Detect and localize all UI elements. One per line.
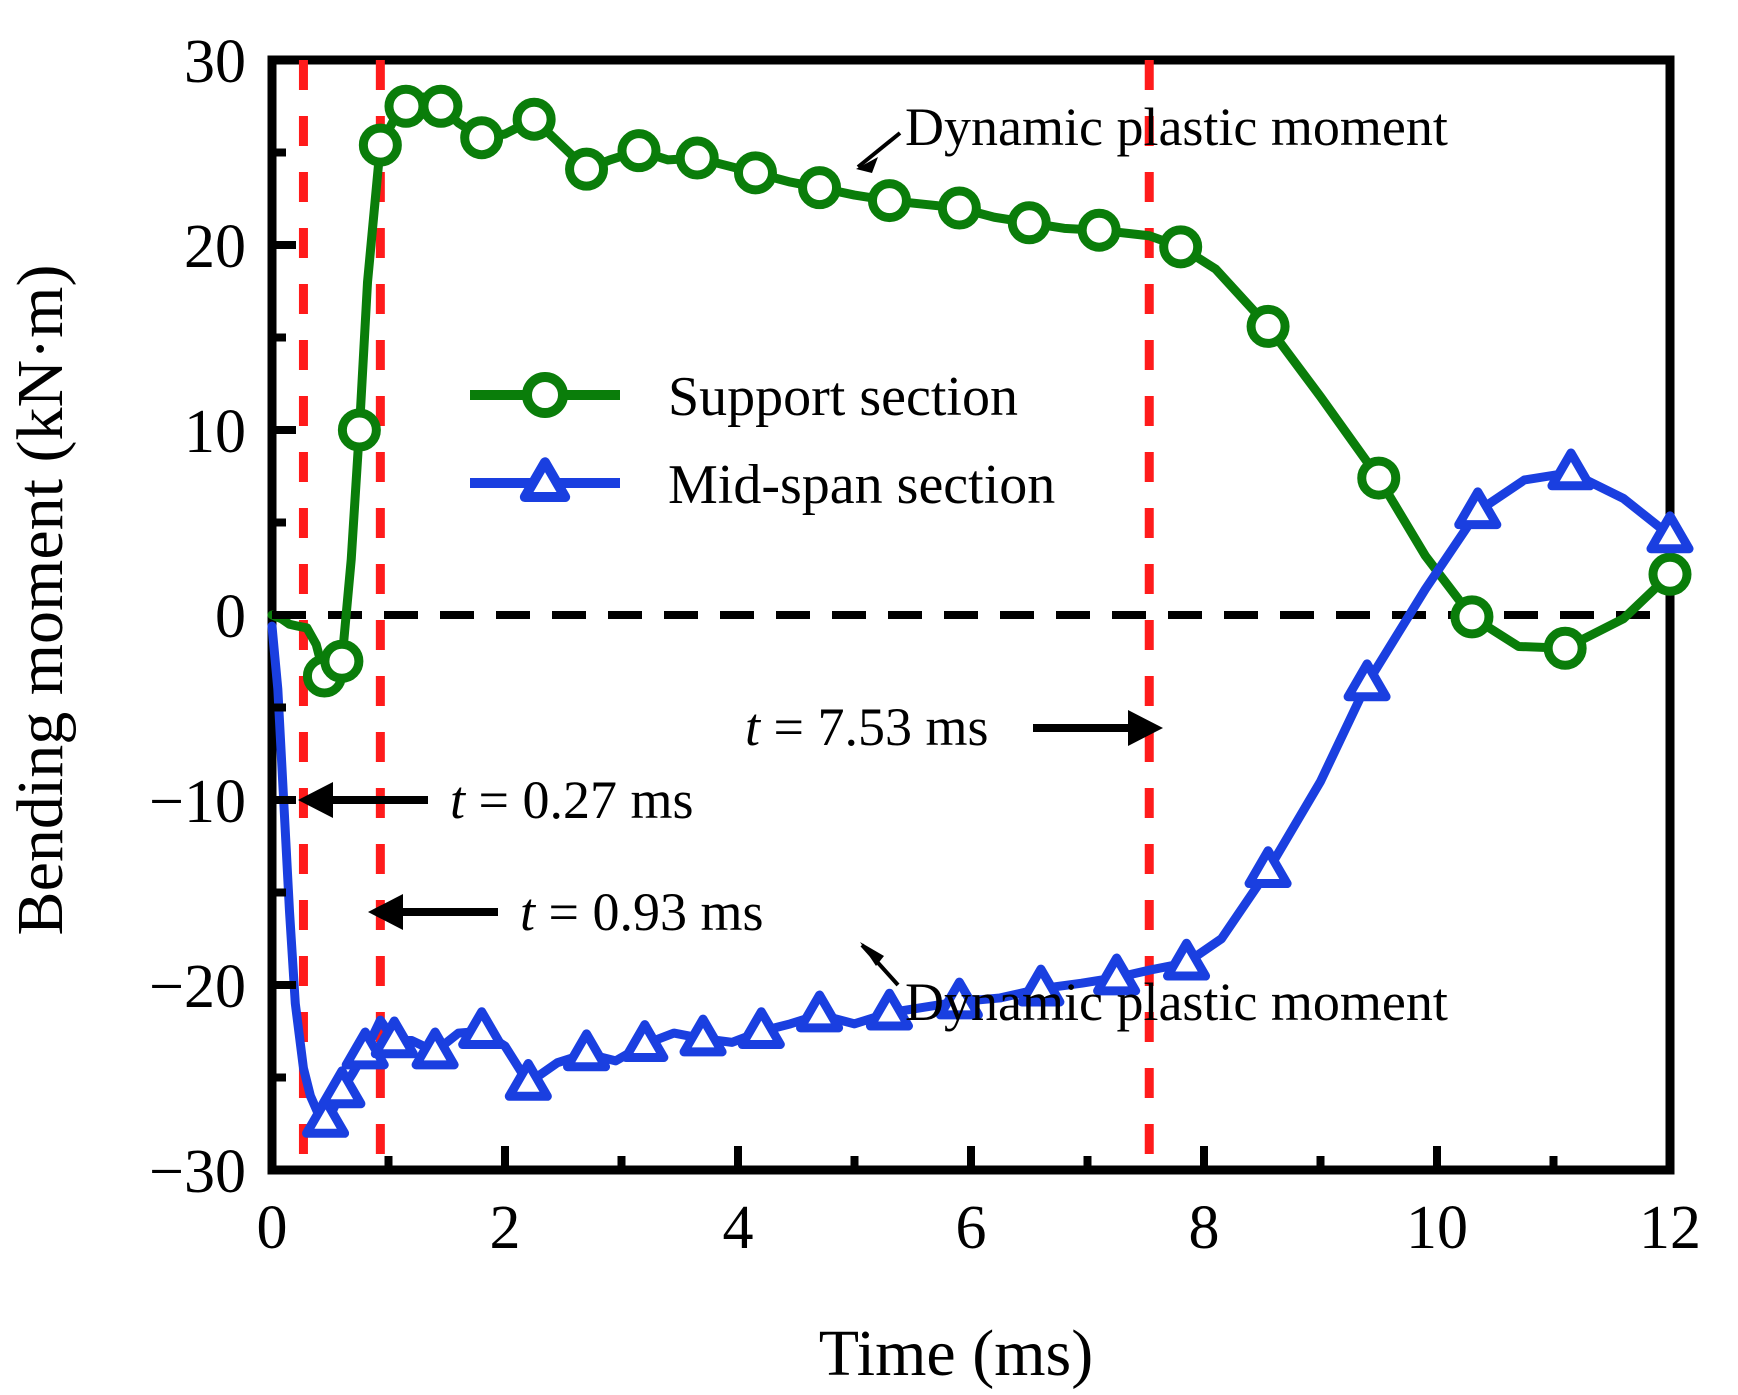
figure-container: 024681012−30−20−100102030 Time (ms) Bend… — [0, 0, 1738, 1395]
data-point-marker — [738, 156, 772, 190]
data-point-marker — [801, 995, 839, 1028]
y-tick-label: −30 — [149, 1138, 246, 1206]
data-point-marker — [570, 152, 604, 186]
data-point-marker — [463, 1012, 501, 1045]
data-point-marker — [1548, 631, 1582, 665]
legend-marker-circle-icon — [527, 377, 563, 413]
annotation-t-753: t = 7.53 ms — [745, 697, 989, 757]
legend-item-support-section[interactable]: Support section — [470, 366, 1018, 428]
bending-moment-chart: 024681012−30−20−100102030 Time (ms) Bend… — [0, 0, 1738, 1395]
annotation-t-027: t = 0.27 ms — [450, 770, 694, 830]
data-point-marker — [742, 1012, 780, 1045]
y-tick-label: 0 — [215, 583, 246, 651]
x-tick-label: 8 — [1189, 1194, 1220, 1262]
annotation-t-093-value: = 0.93 ms — [535, 882, 763, 942]
y-tick-label: −10 — [149, 768, 246, 836]
data-point-marker — [1653, 557, 1687, 591]
data-point-marker — [803, 171, 837, 205]
annotation-dynamic-plastic-moment-top: Dynamic plastic moment — [905, 97, 1448, 157]
data-point-marker — [517, 102, 551, 136]
x-axis-title: Time (ms) — [819, 1317, 1093, 1390]
x-tick-label: 0 — [257, 1194, 288, 1262]
annotations-layer: Dynamic plastic moment Dynamic plastic m… — [298, 97, 1448, 1032]
chart-legend: Support sectionMid-span section — [470, 366, 1055, 516]
y-tick-label: 20 — [184, 213, 246, 281]
annotation-t-027-value: = 0.27 ms — [465, 770, 693, 830]
data-point-marker — [1251, 309, 1285, 343]
data-point-marker — [389, 89, 423, 123]
annotation-t-093: t = 0.93 ms — [520, 882, 764, 942]
data-point-marker — [363, 128, 397, 162]
data-point-marker — [1455, 600, 1489, 634]
annotation-dynamic-plastic-moment-bottom: Dynamic plastic moment — [905, 972, 1448, 1032]
legend-marker-triangle-icon — [525, 462, 565, 497]
data-point-marker — [872, 184, 906, 218]
data-point-marker — [680, 141, 714, 175]
data-point-marker — [626, 1025, 664, 1058]
y-tick-label: 10 — [184, 398, 246, 466]
y-tick-label: −20 — [149, 953, 246, 1021]
data-point-marker — [1164, 230, 1198, 264]
data-point-marker — [1552, 453, 1590, 486]
data-point-marker — [942, 191, 976, 225]
data-point-marker — [325, 644, 359, 678]
x-tick-label: 6 — [956, 1194, 987, 1262]
legend-item-mid-span-section[interactable]: Mid-span section — [470, 454, 1055, 516]
data-point-marker — [465, 121, 499, 155]
data-point-marker — [1459, 492, 1497, 525]
legend-label: Support section — [668, 366, 1018, 428]
data-point-marker — [684, 1019, 722, 1052]
x-tick-label: 4 — [723, 1194, 754, 1262]
annotation-t-753-value: = 7.53 ms — [760, 697, 988, 757]
legend-label: Mid-span section — [668, 454, 1055, 516]
x-tick-label: 12 — [1639, 1194, 1701, 1262]
annotation-arrowhead-t-093 — [368, 894, 403, 930]
data-point-marker — [342, 413, 376, 447]
y-axis-title: Bending moment (kN·m) — [4, 265, 77, 936]
annotation-arrowhead-bottom — [860, 942, 884, 966]
annotation-leader-top — [858, 133, 900, 167]
data-point-marker — [424, 89, 458, 123]
data-point-marker — [1362, 461, 1396, 495]
x-tick-label: 10 — [1406, 1194, 1468, 1262]
x-tick-label: 2 — [490, 1194, 521, 1262]
data-point-marker — [1012, 206, 1046, 240]
data-point-marker — [622, 134, 656, 168]
data-point-marker — [568, 1034, 606, 1067]
y-tick-label: 30 — [184, 28, 246, 96]
data-point-marker — [1082, 213, 1116, 247]
data-point-marker — [870, 993, 908, 1026]
